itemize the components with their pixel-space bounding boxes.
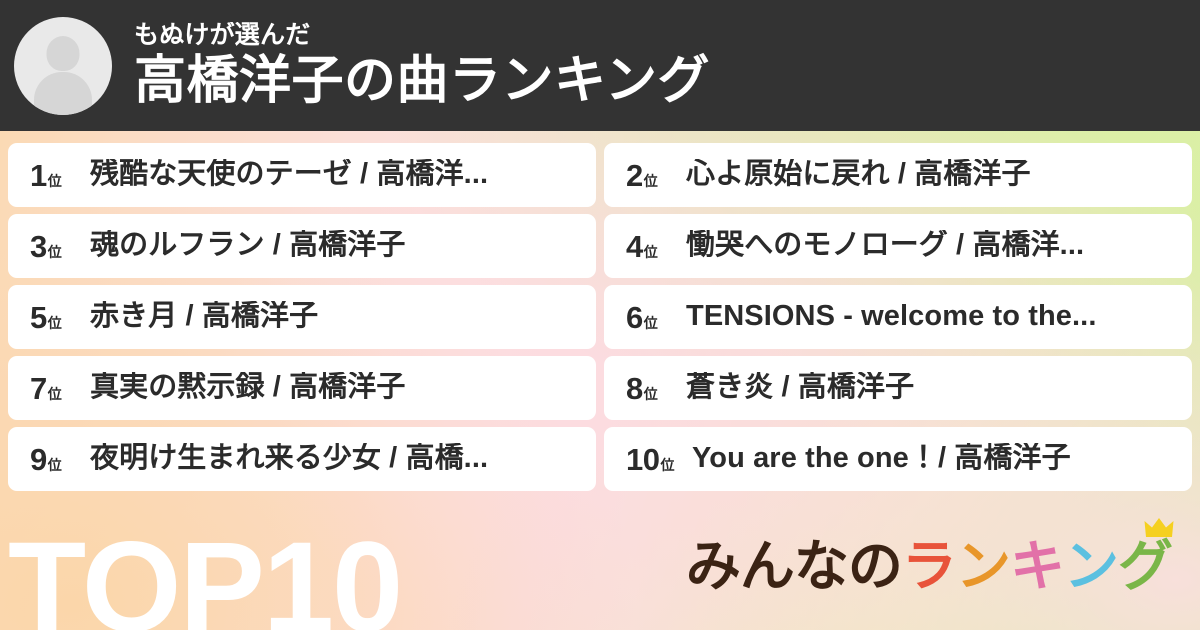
- ranking-item-title: TENSIONS - welcome to the...: [686, 301, 1176, 333]
- rank-value: 10: [626, 444, 659, 475]
- rank-number-6: 6 位: [626, 302, 672, 333]
- rank-value: 5: [30, 302, 47, 333]
- rank-number-7: 7 位: [30, 373, 76, 404]
- rank-suffix: 位: [644, 316, 658, 330]
- rank-value: 8: [626, 373, 643, 404]
- rank-suffix: 位: [48, 174, 62, 188]
- logo-text-n2: ン: [1064, 539, 1118, 594]
- ranking-item-title: 真実の黙示録 / 高橋洋子: [90, 372, 580, 404]
- ranking-list: 1 位 残酷な天使のテーゼ / 高橋洋... 2 位 心よ原始に戻れ / 高橋洋…: [8, 143, 1192, 491]
- rank-value: 9: [30, 444, 47, 475]
- rank-suffix: 位: [48, 245, 62, 259]
- rank-suffix: 位: [644, 245, 658, 259]
- rank-suffix: 位: [660, 458, 674, 472]
- page-title: 高橋洋子の曲ランキング: [134, 53, 710, 109]
- logo-text-minna: みんなの: [686, 539, 902, 594]
- ranking-item-title: 蒼き炎 / 高橋洋子: [686, 372, 1176, 404]
- logo-gu-char: グ: [1118, 535, 1172, 597]
- rank-number-4: 4 位: [626, 231, 672, 262]
- ranking-item-10[interactable]: 10 位 You are the one！/ 高橋洋子: [604, 427, 1192, 491]
- rank-suffix: 位: [48, 458, 62, 472]
- header-text-group: もぬけが選んだ 高橋洋子の曲ランキング: [134, 22, 710, 108]
- ranking-item-title: 心よ原始に戻れ / 高橋洋子: [686, 159, 1176, 191]
- logo-text-ki: キ: [1010, 539, 1064, 594]
- rank-value: 4: [626, 231, 643, 262]
- rank-number-1: 1 位: [30, 160, 76, 191]
- rank-value: 3: [30, 231, 47, 262]
- rank-number-3: 3 位: [30, 231, 76, 262]
- ranking-item-2[interactable]: 2 位 心よ原始に戻れ / 高橋洋子: [604, 143, 1192, 207]
- header-subtitle: もぬけが選んだ: [134, 22, 710, 48]
- ranking-item-5[interactable]: 5 位 赤き月 / 高橋洋子: [8, 285, 596, 349]
- ranking-item-6[interactable]: 6 位 TENSIONS - welcome to the...: [604, 285, 1192, 349]
- ranking-item-title: 魂のルフラン / 高橋洋子: [90, 230, 580, 262]
- ranking-item-1[interactable]: 1 位 残酷な天使のテーゼ / 高橋洋...: [8, 143, 596, 207]
- ranking-item-title: 赤き月 / 高橋洋子: [90, 301, 580, 333]
- rank-suffix: 位: [48, 316, 62, 330]
- ranking-item-title: 残酷な天使のテーゼ / 高橋洋...: [90, 159, 580, 191]
- ranking-item-7[interactable]: 7 位 真実の黙示録 / 高橋洋子: [8, 356, 596, 420]
- avatar-body-shape: [34, 72, 92, 115]
- rank-suffix: 位: [644, 174, 658, 188]
- rank-number-10: 10 位: [626, 444, 686, 475]
- avatar-head-shape: [47, 36, 80, 71]
- ranking-item-8[interactable]: 8 位 蒼き炎 / 高橋洋子: [604, 356, 1192, 420]
- crown-icon: [1144, 517, 1174, 539]
- rank-suffix: 位: [644, 387, 658, 401]
- rank-number-5: 5 位: [30, 302, 76, 333]
- rank-value: 7: [30, 373, 47, 404]
- rank-number-9: 9 位: [30, 444, 76, 475]
- rank-number-8: 8 位: [626, 373, 672, 404]
- ranking-item-3[interactable]: 3 位 魂のルフラン / 高橋洋子: [8, 214, 596, 278]
- ogp-canvas: もぬけが選んだ 高橋洋子の曲ランキング 1 位 残酷な天使のテーゼ / 高橋洋.…: [0, 0, 1200, 630]
- rank-suffix: 位: [48, 387, 62, 401]
- logo-text-ra: ラ: [902, 539, 956, 594]
- logo-text-n1: ン: [956, 539, 1010, 594]
- header-bar: もぬけが選んだ 高橋洋子の曲ランキング: [0, 0, 1200, 131]
- user-avatar-icon: [14, 17, 112, 115]
- ranking-item-4[interactable]: 4 位 慟哭へのモノローグ / 高橋洋...: [604, 214, 1192, 278]
- rank-value: 2: [626, 160, 643, 191]
- top10-label: TOP10: [8, 524, 401, 630]
- ranking-item-title: 慟哭へのモノローグ / 高橋洋...: [686, 230, 1176, 262]
- rank-value: 1: [30, 160, 47, 191]
- ranking-item-9[interactable]: 9 位 夜明け生まれ来る少女 / 高橋...: [8, 427, 596, 491]
- rank-value: 6: [626, 302, 643, 333]
- ranking-item-title: 夜明け生まれ来る少女 / 高橋...: [90, 443, 580, 475]
- ranking-item-title: You are the one！/ 高橋洋子: [692, 443, 1176, 475]
- site-logo[interactable]: みんなの ラ ン キ ン グ: [686, 539, 1172, 594]
- rank-number-2: 2 位: [626, 160, 672, 191]
- logo-text-gu: グ: [1118, 539, 1172, 594]
